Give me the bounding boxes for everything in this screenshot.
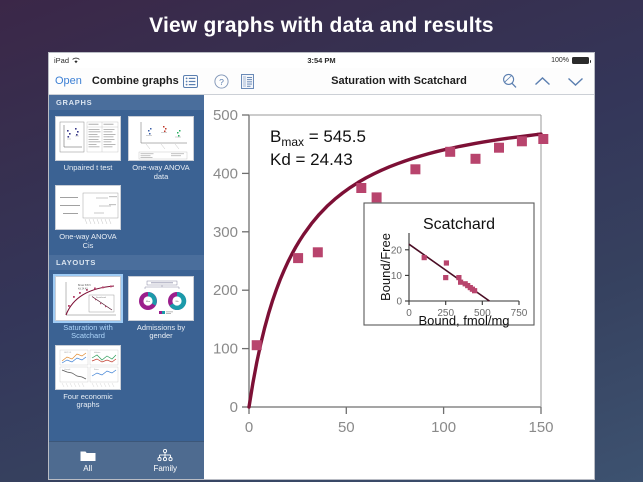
folder-icon bbox=[80, 449, 96, 462]
svg-text:150: 150 bbox=[528, 419, 553, 436]
chevron-down-icon[interactable] bbox=[567, 76, 584, 87]
thumbnail-one-way-anova-cis bbox=[55, 185, 121, 230]
saturation-binding-chart: 0 100 200 300 400 500 bbox=[204, 95, 594, 469]
ipad-device-frame: iPad 3:54 PM 100% Open Combine graphs bbox=[48, 52, 595, 480]
main-toolbar-right bbox=[502, 73, 584, 89]
sidebar-item-admissions-by-gender[interactable]: Men Wo Admissions by bbox=[127, 276, 195, 341]
family-tree-icon bbox=[156, 449, 174, 462]
svg-text:300: 300 bbox=[213, 224, 238, 241]
scatchard-inset: Scatchard bbox=[364, 203, 534, 328]
scatchard-ylabel: Bound/Free bbox=[378, 233, 393, 301]
sidebar-item-label: Saturation with Scatchard bbox=[54, 324, 122, 341]
promo-headline: View graphs with data and results bbox=[0, 14, 643, 38]
sidebar-item-saturation-with-scatchard[interactable]: Bmax 545.5Kd 24.43 Scatchard Saturation … bbox=[54, 276, 122, 341]
main-toolbar: ? bbox=[204, 68, 594, 95]
sidebar-toolbar: Open Combine graphs bbox=[49, 68, 204, 95]
layouts-thumbnail-grid: Bmax 545.5Kd 24.43 Scatchard Saturation … bbox=[49, 270, 204, 415]
sidebar-item-unpaired-t-test[interactable]: Unpaired t test bbox=[54, 116, 122, 181]
sidebar-item-label: Admissions by gender bbox=[127, 324, 195, 341]
split-view: Open Combine graphs GRAPHS bbox=[49, 68, 594, 479]
sidebar-item-label: Four economic graphs bbox=[54, 393, 122, 410]
svg-text:400: 400 bbox=[213, 165, 238, 182]
battery-percent-label: 100% bbox=[551, 57, 569, 64]
document-sheet-icon[interactable] bbox=[241, 74, 254, 89]
svg-text:0: 0 bbox=[396, 297, 402, 308]
svg-text:750: 750 bbox=[511, 308, 528, 319]
scatchard-xlabel: Bound, fmol/mg bbox=[418, 313, 509, 328]
svg-text:100: 100 bbox=[213, 341, 238, 358]
svg-text:Inflation: Inflation bbox=[94, 351, 100, 354]
status-bar-right: 100% bbox=[551, 57, 589, 64]
sidebar-item-one-way-anova-data[interactable]: One-way ANOVA data bbox=[127, 116, 195, 181]
main-toolbar-left: ? bbox=[214, 74, 254, 89]
magnifier-icon[interactable] bbox=[502, 73, 518, 89]
question-mark-circle-icon[interactable]: ? bbox=[214, 74, 229, 89]
chevron-up-icon[interactable] bbox=[534, 76, 551, 87]
tab-label: All bbox=[83, 464, 92, 473]
svg-text:0: 0 bbox=[245, 419, 253, 436]
svg-text:?: ? bbox=[219, 77, 224, 87]
battery-full-icon bbox=[572, 57, 589, 64]
graphs-thumbnail-grid: Unpaired t test bbox=[49, 110, 204, 255]
sidebar: Open Combine graphs GRAPHS bbox=[49, 68, 204, 479]
list-view-icon[interactable] bbox=[183, 75, 198, 88]
sidebar-document-title: Combine graphs bbox=[92, 75, 179, 87]
sidebar-item-four-economic-graphs[interactable]: GDP, USInflation Unempl.Rates bbox=[54, 345, 122, 410]
thumbnail-saturation-with-scatchard: Bmax 545.5Kd 24.43 Scatchard bbox=[55, 276, 121, 321]
sidebar-item-one-way-anova-cis[interactable]: One-way ANOVA Cis bbox=[54, 185, 122, 250]
thumbnail-one-way-anova-data bbox=[128, 116, 194, 161]
svg-text:Rates: Rates bbox=[94, 368, 99, 371]
svg-text:0: 0 bbox=[406, 308, 412, 319]
section-header-graphs: GRAPHS bbox=[49, 95, 204, 110]
svg-text:100: 100 bbox=[431, 419, 456, 436]
graph-canvas[interactable]: 0 100 200 300 400 500 bbox=[204, 95, 594, 479]
thumbnail-admissions-by-gender: Men Wo bbox=[128, 276, 194, 321]
sidebar-item-label: One-way ANOVA Cis bbox=[54, 233, 122, 250]
svg-text:50: 50 bbox=[338, 419, 355, 436]
tab-label: Family bbox=[153, 464, 177, 473]
kd-annotation: Kd = 24.43 bbox=[270, 150, 353, 169]
tab-all[interactable]: All bbox=[49, 442, 127, 479]
svg-text:Kd 24.43: Kd 24.43 bbox=[78, 287, 88, 290]
svg-text:GDP, US: GDP, US bbox=[64, 352, 72, 354]
main-pane: ? bbox=[204, 68, 594, 479]
sidebar-item-label: One-way ANOVA data bbox=[127, 164, 195, 181]
scatchard-title: Scatchard bbox=[423, 216, 495, 233]
sidebar-filler bbox=[49, 414, 204, 441]
sidebar-item-label: Unpaired t test bbox=[64, 164, 113, 173]
section-header-layouts: LAYOUTS bbox=[49, 255, 204, 270]
svg-text:0: 0 bbox=[230, 399, 238, 416]
sidebar-tab-bar: All Family bbox=[49, 441, 204, 479]
status-bar: iPad 3:54 PM 100% bbox=[49, 53, 594, 68]
status-bar-clock: 3:54 PM bbox=[49, 56, 594, 65]
thumbnail-unpaired-t-test bbox=[55, 116, 121, 161]
thumbnail-four-economic-graphs: GDP, USInflation Unempl.Rates bbox=[55, 345, 121, 390]
svg-text:200: 200 bbox=[213, 282, 238, 299]
svg-text:Unempl.: Unempl. bbox=[64, 369, 71, 371]
svg-text:Scatchard: Scatchard bbox=[96, 296, 107, 299]
tab-family[interactable]: Family bbox=[127, 442, 205, 479]
svg-text:500: 500 bbox=[213, 107, 238, 124]
open-button[interactable]: Open bbox=[55, 75, 82, 87]
